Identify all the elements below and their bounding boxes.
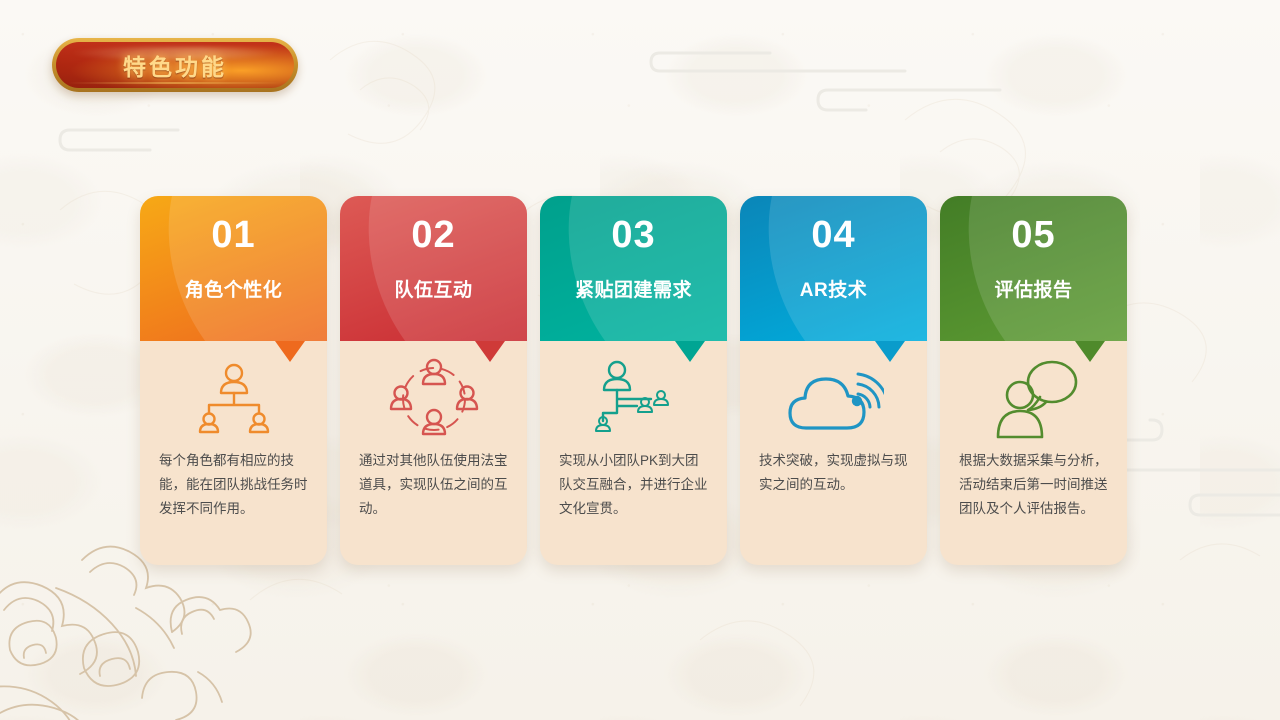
card-header: 03紧贴团建需求 (540, 196, 727, 341)
card-number: 02 (411, 216, 455, 254)
card-number: 05 (1011, 216, 1055, 254)
page-title: 特色功能 (123, 48, 227, 82)
card-title: 紧贴团建需求 (575, 275, 692, 302)
card-title: 评估报告 (994, 275, 1072, 302)
card-title: AR技术 (800, 275, 867, 302)
card-description: 通过对其他队伍使用法宝道具，实现队伍之间的互动。 (359, 449, 508, 521)
card-notch-triangle (1075, 341, 1105, 362)
card-header: 05评估报告 (940, 196, 1127, 341)
card-body: 实现从小团队PK到大团队交互融合，并进行企业文化宣贯。 (540, 341, 727, 565)
people-circle-icon (388, 357, 480, 441)
card-body: 技术突破，实现虚拟与现实之间的互动。 (740, 341, 927, 565)
cloud-wifi-icon (784, 357, 884, 441)
org-chart-icon (191, 357, 277, 441)
card-header: 02队伍互动 (340, 196, 527, 341)
team-tree-icon (589, 357, 679, 441)
card-body: 每个角色都有相应的技能，能在团队挑战任务时发挥不同作用。 (140, 341, 327, 565)
feature-card-01[interactable]: 01角色个性化每个角色都有相应的技能，能在团队挑战任务时发挥不同作用。 (140, 196, 327, 565)
card-number: 01 (211, 216, 255, 254)
card-number: 04 (811, 216, 855, 254)
section-title-badge: 特色功能 (52, 38, 298, 92)
card-description: 每个角色都有相应的技能，能在团队挑战任务时发挥不同作用。 (159, 449, 308, 521)
card-description: 实现从小团队PK到大团队交互融合，并进行企业文化宣贯。 (559, 449, 708, 521)
card-body: 根据大数据采集与分析，活动结束后第一时间推送团队及个人评估报告。 (940, 341, 1127, 565)
person-speech-icon (988, 357, 1080, 441)
card-number: 03 (611, 216, 655, 254)
card-notch-triangle (675, 341, 705, 362)
card-notch-triangle (875, 341, 905, 362)
card-description: 技术突破，实现虚拟与现实之间的互动。 (759, 449, 908, 497)
feature-card-05[interactable]: 05评估报告根据大数据采集与分析，活动结束后第一时间推送团队及个人评估报告。 (940, 196, 1127, 565)
card-notch-triangle (475, 341, 505, 362)
section-title-badge-inner: 特色功能 (56, 42, 294, 88)
feature-card-04[interactable]: 04AR技术技术突破，实现虚拟与现实之间的互动。 (740, 196, 927, 565)
feature-card-list: 01角色个性化每个角色都有相应的技能，能在团队挑战任务时发挥不同作用。02队伍互… (140, 196, 1127, 565)
feature-card-03[interactable]: 03紧贴团建需求实现从小团队PK到大团队交互融合，并进行企业文化宣贯。 (540, 196, 727, 565)
card-header: 01角色个性化 (140, 196, 327, 341)
card-notch-triangle (275, 341, 305, 362)
card-header: 04AR技术 (740, 196, 927, 341)
card-title: 角色个性化 (185, 275, 283, 302)
card-body: 通过对其他队伍使用法宝道具，实现队伍之间的互动。 (340, 341, 527, 565)
feature-card-02[interactable]: 02队伍互动通过对其他队伍使用法宝道具，实现队伍之间的互动。 (340, 196, 527, 565)
card-title: 队伍互动 (394, 275, 472, 302)
card-description: 根据大数据采集与分析，活动结束后第一时间推送团队及个人评估报告。 (959, 449, 1108, 521)
